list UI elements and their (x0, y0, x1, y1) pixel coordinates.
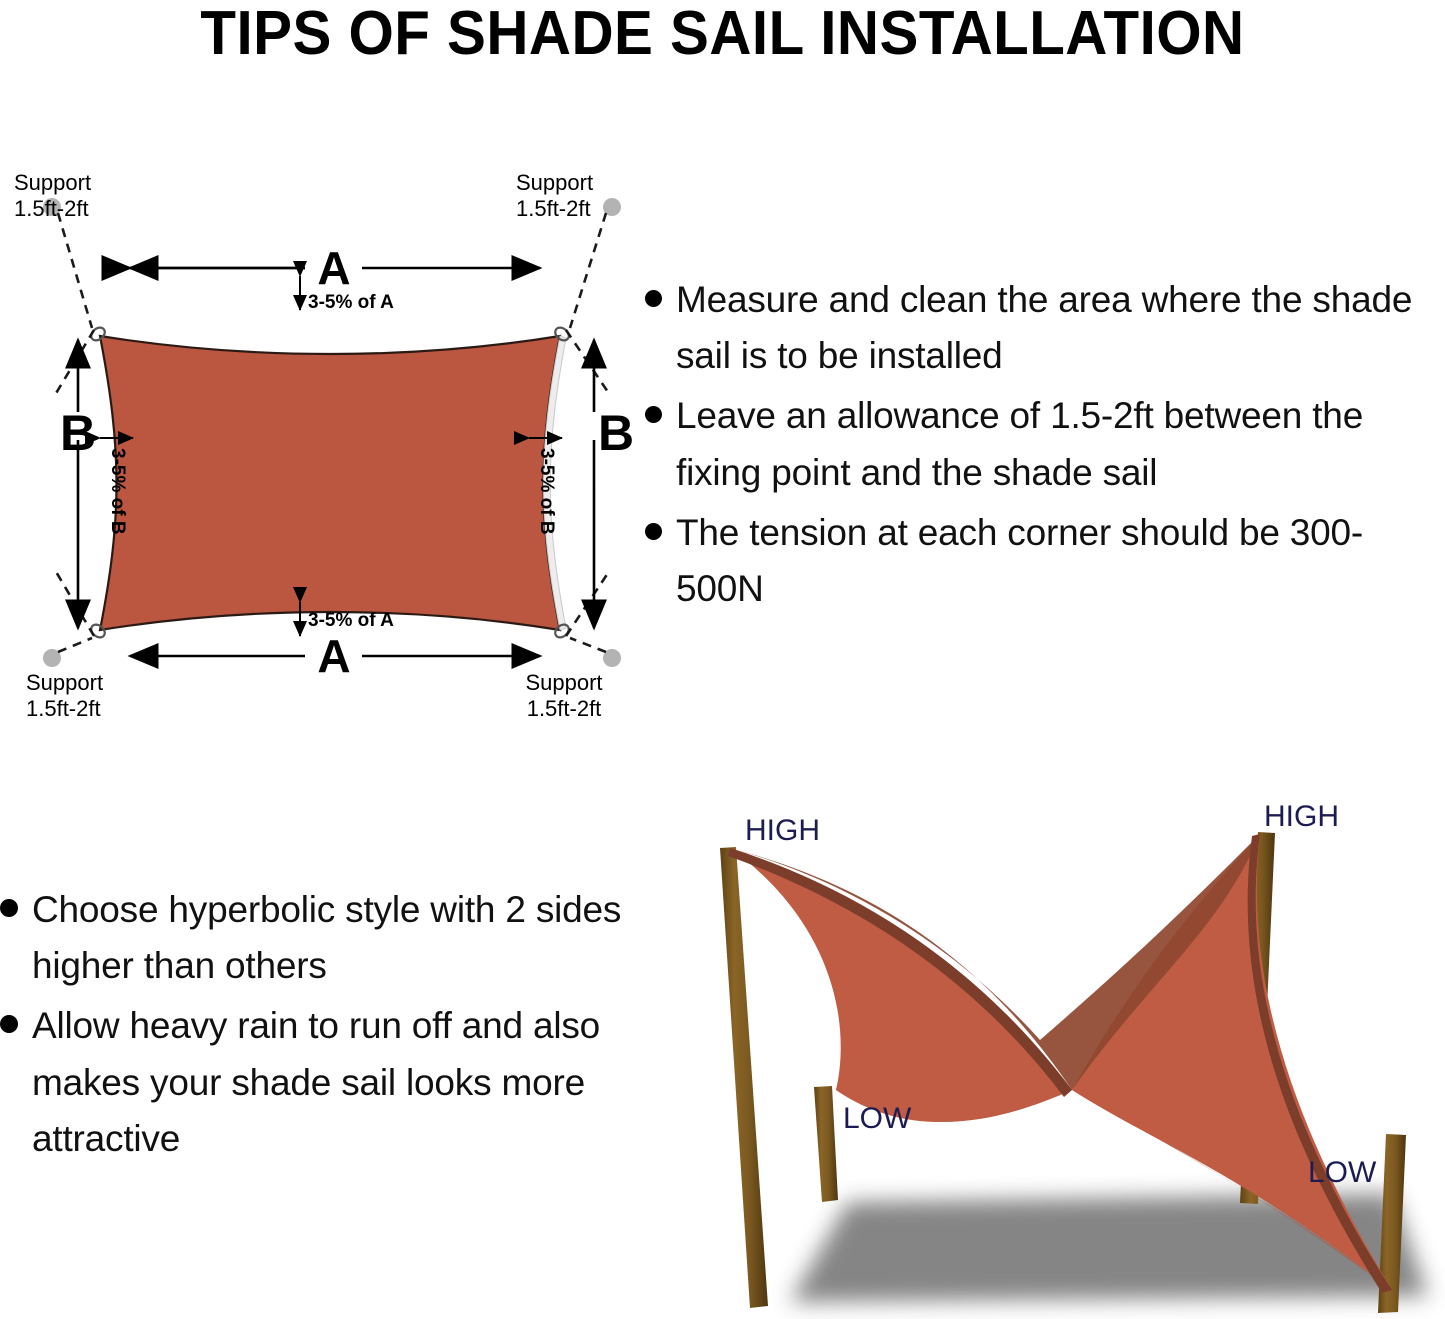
bullet-dot-icon (0, 899, 18, 917)
support-br-line1: Support (525, 670, 602, 695)
dimension-label-b-right: B (598, 405, 634, 461)
dimension-label-b-left: B (60, 405, 96, 461)
curve-callout-right-label: 3-5% of B (536, 448, 557, 535)
support-tl-line2: 1.5ft-2ft (14, 196, 89, 221)
curve-callout-left-label: 3-5% of B (107, 448, 128, 535)
support-bl-line1: Support (26, 670, 103, 695)
dimension-b-left: B (60, 340, 96, 628)
support-bl-line2: 1.5ft-2ft (26, 696, 101, 721)
support-tl-line1: Support (14, 170, 91, 195)
tip-text: Choose hyperbolic style with 2 sides hig… (32, 882, 625, 994)
tips-list-right: Measure and clean the area where the sha… (645, 272, 1445, 621)
tip-item: Leave an allowance of 1.5-2ft between th… (645, 388, 1445, 500)
post-low-left (814, 1086, 838, 1202)
tip-text: The tension at each corner should be 300… (676, 505, 1445, 617)
support-tr-line2: 1.5ft-2ft (516, 196, 591, 221)
dimension-label-a-bottom: A (317, 630, 350, 682)
label-high-left: HIGH (745, 814, 820, 847)
curve-callout-bottom-label: 3-5% of A (308, 610, 394, 631)
tip-text: Allow heavy rain to run off and also mak… (32, 998, 625, 1167)
dimension-a-top: A (130, 242, 540, 294)
infographic-page: TIPS OF SHADE SAIL INSTALLATION (0, 0, 1445, 1319)
tip-text: Leave an allowance of 1.5-2ft between th… (676, 388, 1445, 500)
page-title: TIPS OF SHADE SAIL INSTALLATION (43, 0, 1401, 69)
label-low-right: LOW (1308, 1156, 1377, 1189)
support-tr-line1: Support (516, 170, 593, 195)
bullet-dot-icon (645, 406, 662, 423)
tip-item: Measure and clean the area where the sha… (645, 272, 1445, 384)
hypar-sail-illustration: HIGH HIGH LOW LOW (680, 790, 1445, 1319)
label-low-left: LOW (843, 1102, 912, 1135)
bullet-dot-icon (0, 1015, 18, 1033)
shade-sail-shape (100, 336, 560, 630)
rect-sail-diagram: A A B B 3-5% of A 3- (0, 150, 680, 750)
curve-callout-top-label: 3-5% of A (308, 292, 394, 313)
dimension-b-right: B (594, 340, 634, 628)
post-high-left (720, 847, 768, 1308)
label-high-right: HIGH (1264, 800, 1339, 833)
tip-item: The tension at each corner should be 300… (645, 505, 1445, 617)
tip-item: Allow heavy rain to run off and also mak… (0, 998, 625, 1167)
tip-text: Measure and clean the area where the sha… (676, 272, 1445, 384)
hypar-left-front (732, 850, 1072, 1122)
dimension-label-a-top: A (317, 242, 350, 294)
bullet-dot-icon (645, 290, 662, 307)
tip-item: Choose hyperbolic style with 2 sides hig… (0, 882, 625, 994)
bullet-dot-icon (645, 523, 662, 540)
tips-list-left: Choose hyperbolic style with 2 sides hig… (0, 882, 625, 1171)
support-br-line2: 1.5ft-2ft (527, 696, 602, 721)
curve-callout-left: 3-5% of B (100, 438, 133, 535)
